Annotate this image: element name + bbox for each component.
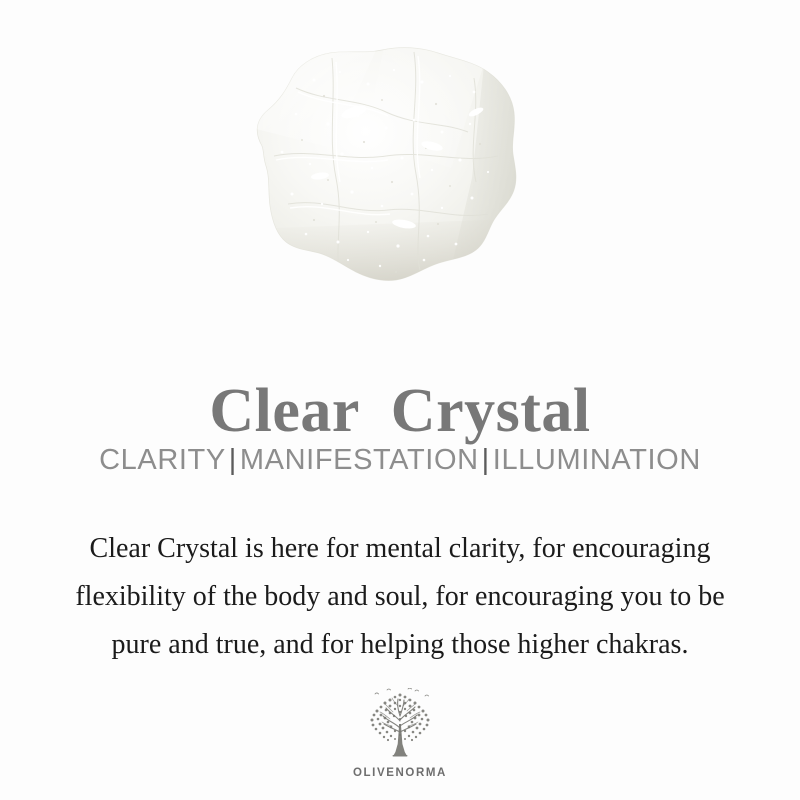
keyword-illumination: ILLUMINATION [493,444,701,476]
keyword-separator: | [226,444,240,476]
page-title: Clear Crystal [0,375,800,447]
keyword-line: CLARITY|MANIFESTATION|ILLUMINATION [0,442,800,478]
keyword-clarity: CLARITY [99,444,226,476]
brand-logo: OLIVENORMA [0,688,800,780]
brand-name-text: OLIVENORMA [0,766,800,780]
product-card: Clear Crystal CLARITY|MANIFESTATION|ILLU… [0,0,800,800]
keyword-manifestation: MANIFESTATION [240,444,479,476]
hero-image-region [0,0,800,300]
olive-tree-logo-icon [357,688,443,764]
clear-crystal-image [236,28,546,290]
keyword-separator: | [479,444,493,476]
product-description: Clear Crystal is here for mental clarity… [50,525,750,669]
